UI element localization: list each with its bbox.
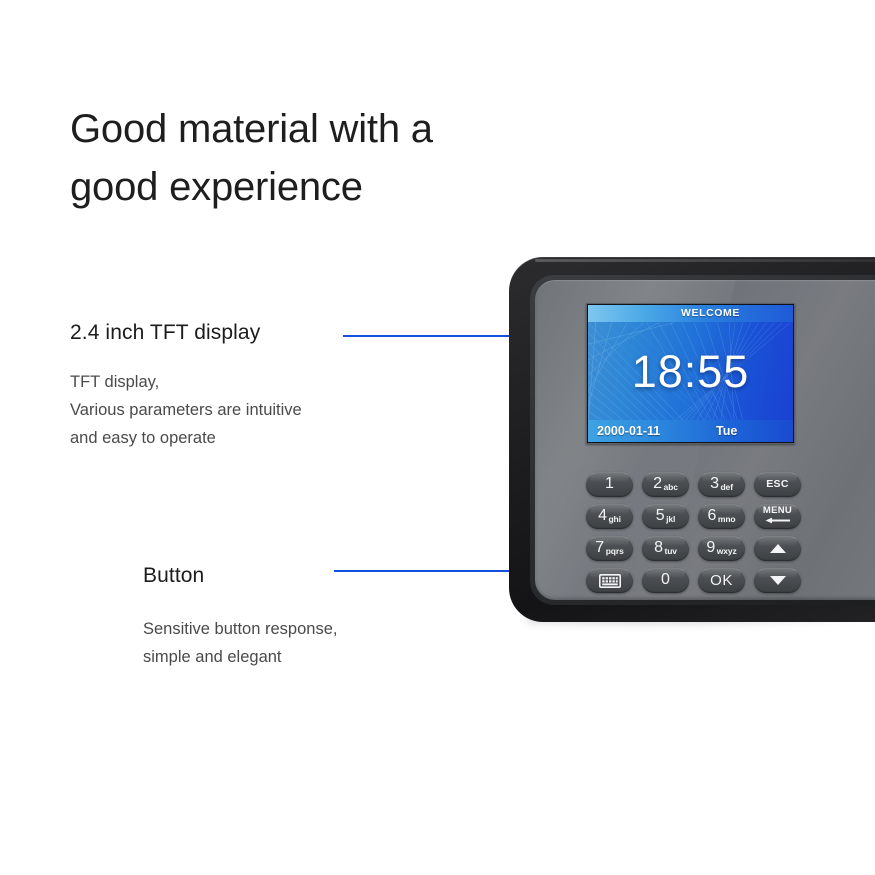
key-menu[interactable]: MENU — [754, 504, 801, 529]
page-title-line-2: good experience — [70, 158, 540, 216]
key-8-digit: 8 — [654, 540, 663, 556]
key-7[interactable]: 7 pqrs — [586, 536, 633, 561]
key-9-letters: wxyz — [717, 547, 737, 556]
triangle-down-icon — [770, 576, 786, 585]
key-down[interactable] — [754, 568, 801, 593]
key-esc[interactable]: ESC — [754, 472, 801, 497]
key-3[interactable]: 3 def — [698, 472, 745, 497]
bezel-highlight — [535, 259, 875, 262]
page-title-line-1: Good material with a — [70, 100, 540, 158]
key-2[interactable]: 2 abc — [642, 472, 689, 497]
callout-body-display: TFT display, Various parameters are intu… — [70, 368, 302, 452]
callout-body-button-line-2: simple and elegant — [143, 643, 337, 671]
product-feature-page: Good material with a good experience 2.4… — [0, 0, 875, 875]
key-4-digit: 4 — [598, 508, 607, 524]
lcd-status-bar: 2000-01-11 Tue — [588, 420, 793, 442]
key-0-digit: 0 — [661, 572, 670, 588]
leader-line-display — [343, 335, 511, 337]
callout-body-display-line-2: Various parameters are intuitive — [70, 396, 302, 424]
device-front-face: WELCOME 18:55 2000-01-11 Tue 1 — [535, 280, 875, 600]
key-7-digit: 7 — [595, 540, 604, 556]
lcd-clock: 18:55 — [588, 349, 793, 394]
key-6[interactable]: 6 mno — [698, 504, 745, 529]
key-8-letters: tuv — [664, 547, 676, 556]
key-4[interactable]: 4 ghi — [586, 504, 633, 529]
key-2-digit: 2 — [653, 476, 662, 492]
key-keyboard[interactable] — [586, 568, 633, 593]
key-0[interactable]: 0 — [642, 568, 689, 593]
key-2-letters: abc — [664, 483, 678, 492]
key-9[interactable]: 9 wxyz — [698, 536, 745, 561]
key-4-letters: ghi — [608, 515, 620, 524]
lcd-date-text: 2000-01-11 — [597, 420, 660, 442]
device-keypad: 1 2 abc 3 def ESC — [586, 472, 801, 600]
key-5-letters: jkl — [666, 515, 675, 524]
time-attendance-device: WELCOME 18:55 2000-01-11 Tue 1 — [509, 257, 875, 630]
keypad-row-4: 0 OK — [586, 568, 801, 593]
key-6-digit: 6 — [707, 508, 716, 524]
callout-body-display-line-3: and easy to operate — [70, 424, 302, 452]
backspace-arrow-icon — [765, 517, 791, 524]
callout-body-button: Sensitive button response, simple and el… — [143, 615, 337, 671]
key-3-letters: def — [720, 483, 732, 492]
key-5-digit: 5 — [656, 508, 665, 524]
callout-title-button: Button — [143, 564, 204, 588]
key-menu-label: MENU — [763, 506, 792, 516]
key-esc-label: ESC — [766, 479, 789, 490]
leader-line-button — [334, 570, 513, 572]
keyboard-icon — [599, 574, 621, 588]
key-5[interactable]: 5 jkl — [642, 504, 689, 529]
keypad-row-1: 1 2 abc 3 def ESC — [586, 472, 801, 497]
key-ok[interactable]: OK — [698, 568, 745, 593]
key-8[interactable]: 8 tuv — [642, 536, 689, 561]
key-1-digit: 1 — [605, 476, 614, 492]
callout-body-display-line-1: TFT display, — [70, 368, 302, 396]
lcd-weekday-text: Tue — [716, 420, 737, 442]
lcd-screen: WELCOME 18:55 2000-01-11 Tue — [588, 305, 793, 442]
key-9-digit: 9 — [706, 540, 715, 556]
key-3-digit: 3 — [710, 476, 719, 492]
callout-body-button-line-1: Sensitive button response, — [143, 615, 337, 643]
key-1[interactable]: 1 — [586, 472, 633, 497]
keypad-row-3: 7 pqrs 8 tuv 9 wxyz — [586, 536, 801, 561]
page-title: Good material with a good experience — [70, 100, 540, 216]
callout-title-display: 2.4 inch TFT display — [70, 321, 260, 345]
key-ok-label: OK — [710, 573, 733, 588]
triangle-up-icon — [770, 544, 786, 553]
key-up[interactable] — [754, 536, 801, 561]
lcd-frame: WELCOME 18:55 2000-01-11 Tue — [586, 303, 795, 444]
lcd-title-bar: WELCOME — [588, 305, 793, 322]
lcd-welcome-text: WELCOME — [681, 307, 740, 319]
key-6-letters: mno — [718, 515, 736, 524]
keypad-row-2: 4 ghi 5 jkl 6 mno MENU — [586, 504, 801, 529]
key-7-letters: pqrs — [606, 547, 624, 556]
